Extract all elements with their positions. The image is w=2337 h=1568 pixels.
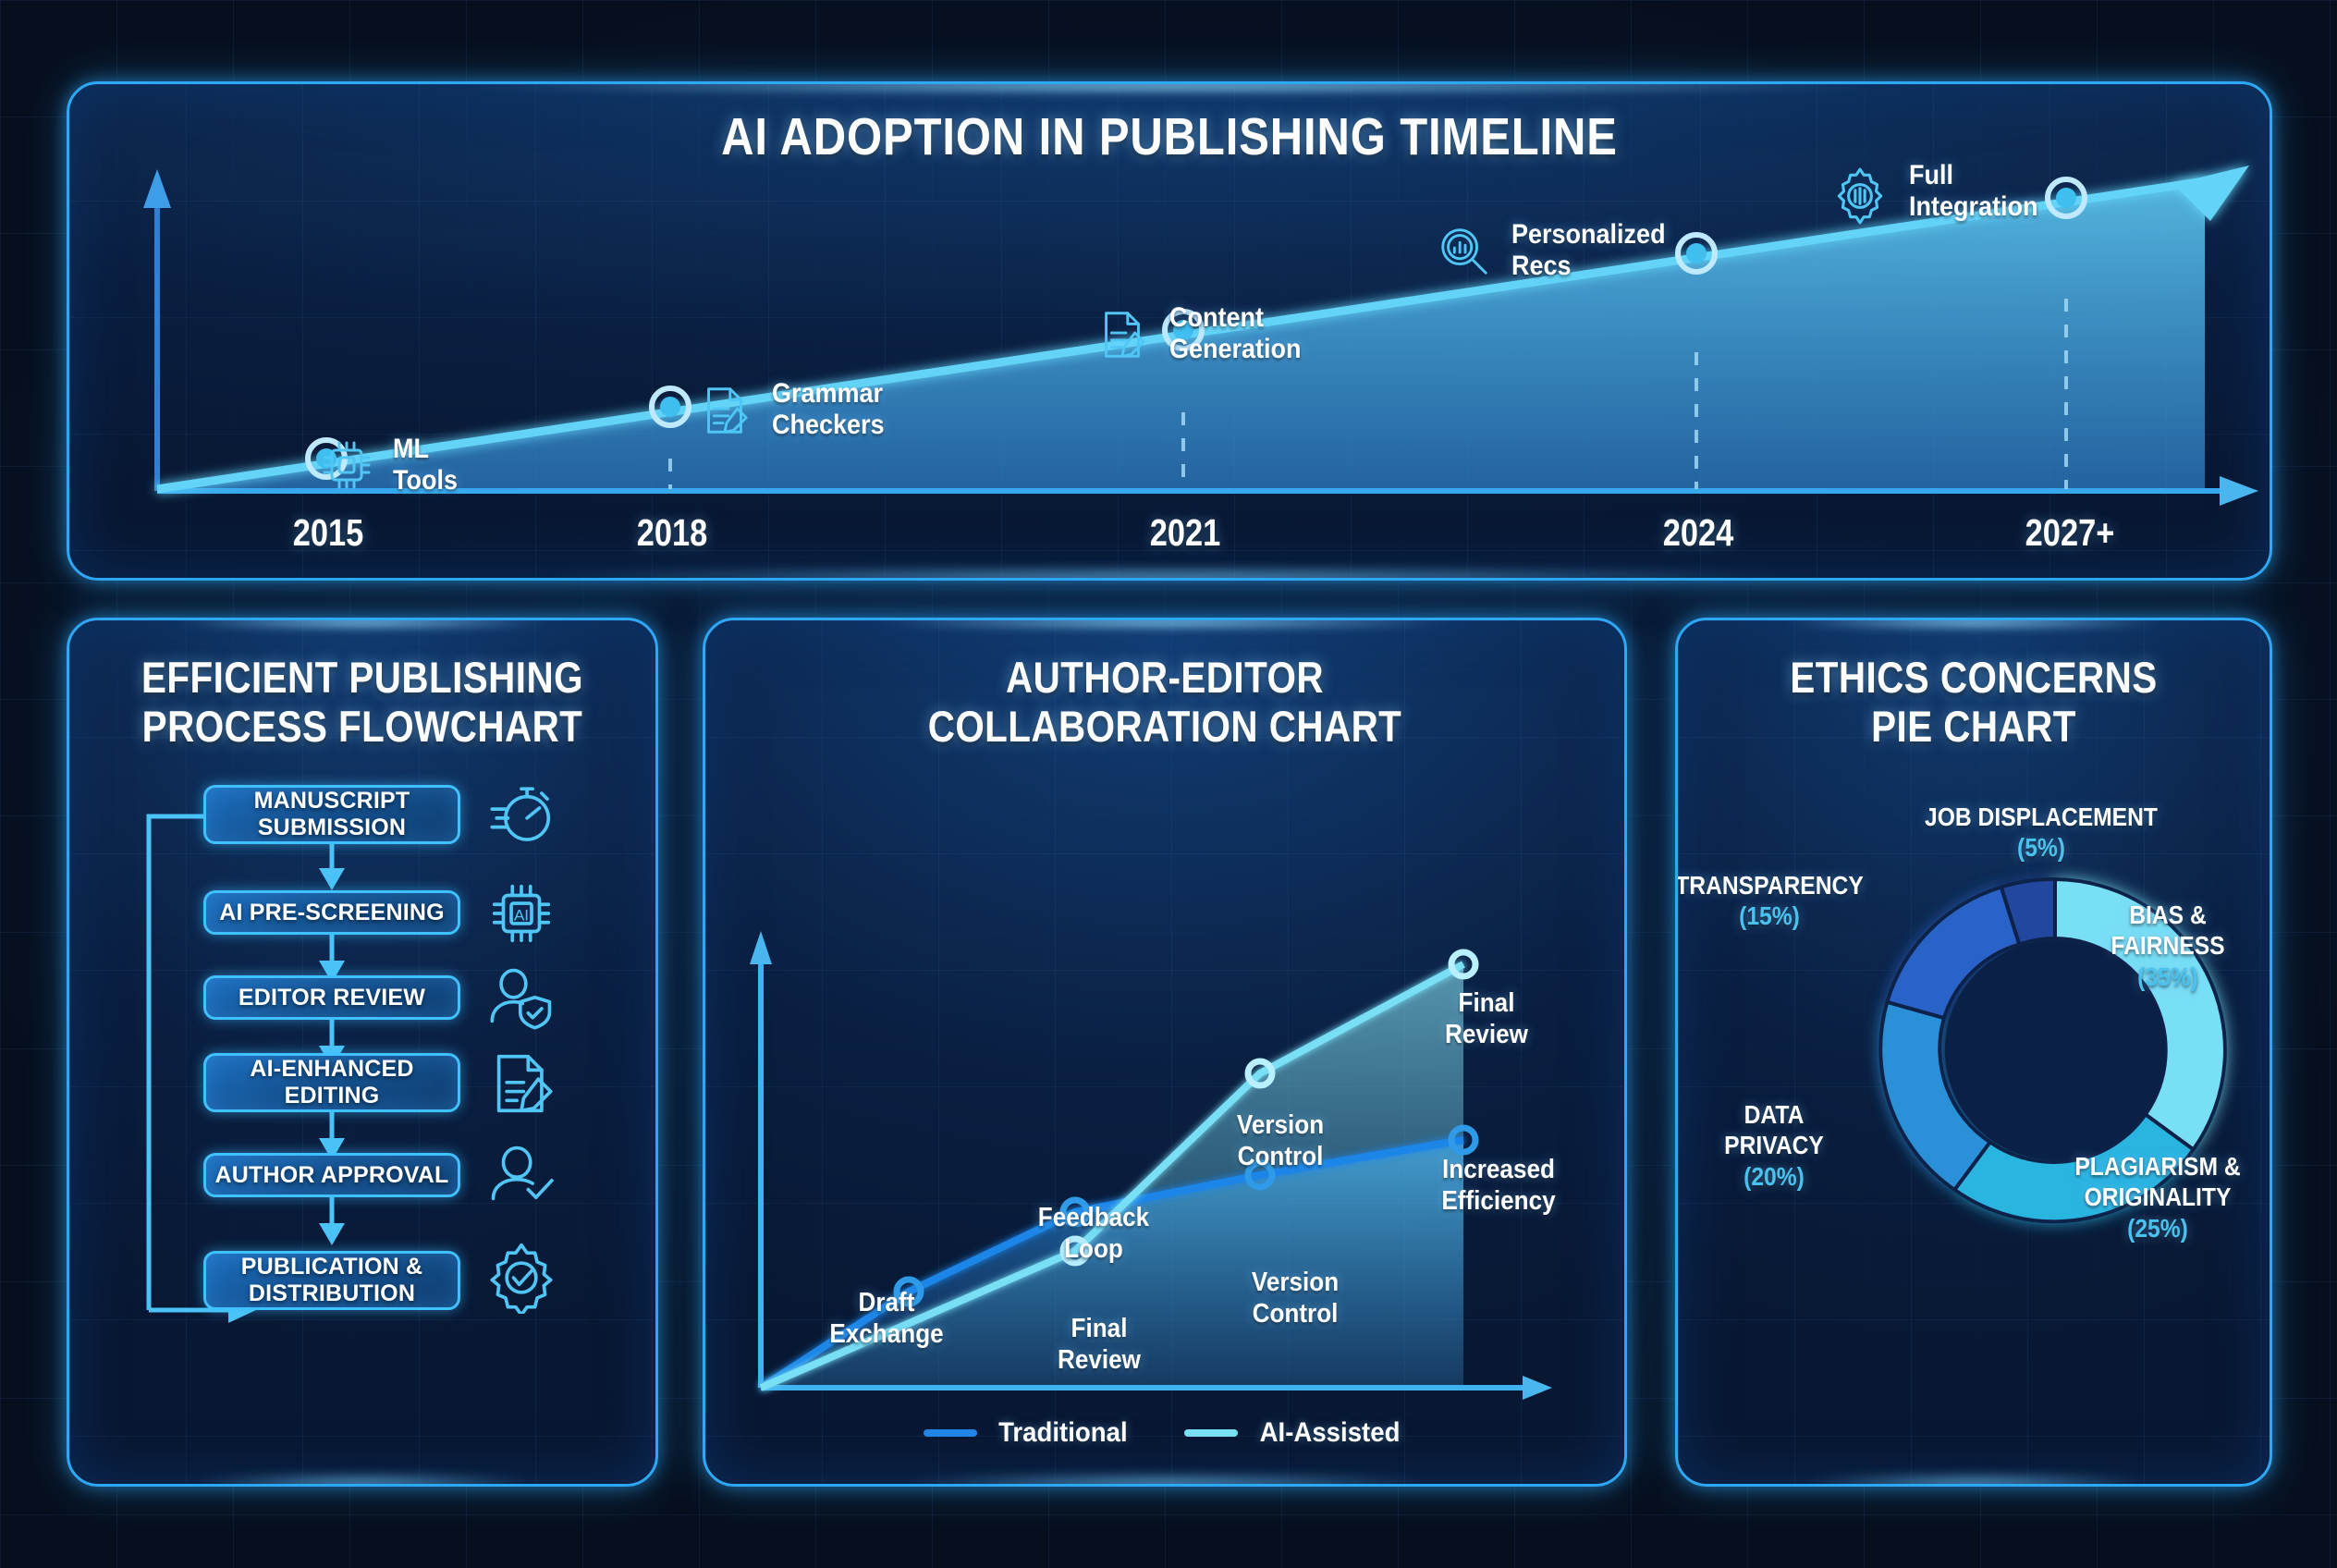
microchip-icon <box>317 435 376 499</box>
flow-step-ai-pre-screening[interactable]: AI PRE-SCREENING <box>203 890 460 935</box>
collab-annotation-final-review-bottom: Final Review <box>1016 1314 1182 1376</box>
flowchart-panel: EFFICIENT PUBLISHING PROCESS FLOWCHART M… <box>67 618 658 1487</box>
timeline-milestone-label-2: Content Generation <box>1169 302 1302 365</box>
legend-swatch-ai-assisted <box>1184 1429 1238 1437</box>
pie-label-transparency: TRANSPARENCY(15%) <box>1675 839 1871 962</box>
svg-text:AI: AI <box>514 906 529 924</box>
pie-label-text: PLAGIARISM & ORIGINALITY <box>2074 1152 2240 1212</box>
timeline-milestone-label-4: Full Integration <box>1909 160 2038 223</box>
collab-annotation-final-review-top: Final Review <box>1408 988 1566 1050</box>
pie-label-text: BIAS & FAIRNESS <box>2111 900 2224 961</box>
panel-glow <box>1808 1475 2139 1487</box>
pie-pct-text: (35%) <box>2078 962 2257 993</box>
flow-step-publication-distribution[interactable]: PUBLICATION & DISTRIBUTION <box>203 1251 460 1310</box>
document-pencil-icon <box>485 1047 557 1120</box>
ethics-panel: ETHICS CONCERNS PIE CHART JOB DISPLACEME… <box>1675 618 2272 1487</box>
legend-swatch-traditional <box>924 1429 977 1437</box>
timeline-title: AI ADOPTION IN PUBLISHING TIMELINE <box>224 108 2116 167</box>
gear-check-icon <box>485 1242 557 1314</box>
flow-step-ai-enhanced-editing[interactable]: AI-ENHANCED EDITING <box>203 1053 460 1112</box>
pie-label-text: JOB DISPLACEMENT <box>1925 802 2158 831</box>
pie-pct-text: (5%) <box>1907 832 2175 864</box>
flow-step-author-approval[interactable]: AUTHOR APPROVAL <box>203 1153 460 1197</box>
timeline-milestone-label-3: Personalized Recs <box>1511 219 1666 282</box>
collab-annotation-version-control-ai: Version Control <box>1197 1110 1364 1172</box>
document-pencil-icon <box>1094 306 1151 368</box>
timeline-year-3: 2024 <box>1636 511 1760 555</box>
collab-annotation-draft-exchange: Draft Exchange <box>803 1288 970 1350</box>
collab-annotation-version-control-traditional: Version Control <box>1212 1268 1378 1329</box>
pie-label-data-privacy: DATA PRIVACY(20%) <box>1693 1068 1855 1223</box>
collaboration-panel: AUTHOR-EDITOR COLLABORATION CHART <box>703 618 1627 1487</box>
pie-label-text: TRANSPARENCY <box>1675 871 1864 900</box>
legend-label-traditional: Traditional <box>998 1417 1128 1449</box>
magnifier-bar-chart-icon <box>1436 223 1493 285</box>
collab-annotation-increased-efficiency: Increased Efficiency <box>1407 1155 1590 1217</box>
timeline-year-4: 2027+ <box>2000 511 2139 555</box>
timeline-milestone-label-1: Grammar Checkers <box>772 378 885 441</box>
pie-pct-text: (20%) <box>1693 1161 1855 1193</box>
collaboration-legend: Traditional AI-Assisted <box>705 1417 1624 1449</box>
timeline-year-2: 2021 <box>1123 511 1247 555</box>
flow-step-editor-review[interactable]: EDITOR REVIEW <box>203 975 460 1020</box>
pie-label-text: DATA PRIVACY <box>1724 1100 1824 1160</box>
legend-label-ai-assisted: AI-Assisted <box>1260 1417 1401 1449</box>
user-shield-check-icon <box>485 962 557 1035</box>
panel-glow <box>1784 618 2163 630</box>
ethics-title: ETHICS CONCERNS PIE CHART <box>1719 654 2228 751</box>
ai-chip-icon: AI <box>485 877 557 949</box>
pie-pct-text: (15%) <box>1675 900 1871 932</box>
collaboration-title: AUTHOR-EDITOR COLLABORATION CHART <box>770 654 1560 751</box>
gear-ai-brain-icon <box>1829 165 1890 231</box>
stopwatch-icon <box>485 778 557 850</box>
document-pencil-icon <box>696 382 753 444</box>
timeline-year-0: 2015 <box>266 511 390 555</box>
pie-pct-text: (25%) <box>2058 1213 2257 1244</box>
legend-item-ai-assisted[interactable]: AI-Assisted <box>1184 1417 1406 1449</box>
timeline-year-1: 2018 <box>610 511 734 555</box>
user-check-icon <box>485 1140 557 1212</box>
collab-annotation-feedback-loop: Feedback Loop <box>1010 1203 1177 1265</box>
timeline-panel: AI ADOPTION IN PUBLISHING TIMELINE ML To… <box>67 81 2272 581</box>
pie-label-bias-fairness: BIAS & FAIRNESS(35%) <box>2078 868 2257 1023</box>
timeline-milestone-label-0: ML Tools <box>393 434 458 496</box>
flow-step-manuscript-submission[interactable]: MANUSCRIPT SUBMISSION <box>203 785 460 844</box>
pie-label-plagiarism-originality: PLAGIARISM & ORIGINALITY(25%) <box>2058 1120 2257 1275</box>
legend-item-traditional[interactable]: Traditional <box>924 1417 1133 1449</box>
